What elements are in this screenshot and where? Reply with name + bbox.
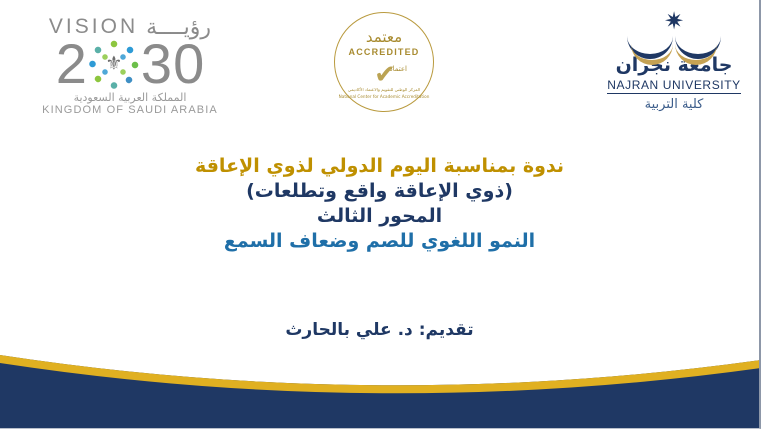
saudi-emblem-icon: ⚜ (105, 53, 122, 76)
presentation-slide: VISION رؤيــــة 2 ⚜ 3 0 المملكة العربية … (0, 0, 761, 429)
header-logo-strip: VISION رؤيــــة 2 ⚜ 3 0 المملكة العربية … (0, 0, 761, 132)
slide-title-block: ندوة بمناسبة اليوم الدولي لذوي الإعاقة (… (0, 154, 759, 254)
accredited-seal: معتمد ACCREDITED ✔ اعتماد المركز الوطني … (334, 12, 434, 112)
seal-checkmark-icon: ✔ اعتماد (361, 60, 407, 86)
nu-college-ar: كلية التربية (600, 97, 748, 112)
title-line-axis: المحور الثالث (0, 204, 759, 229)
vision-digit-3: 3 (141, 38, 172, 90)
title-line-topic: النمو اللغوي للصم وضعاف السمع (0, 229, 759, 254)
vision-digit-2: 2 (56, 38, 87, 90)
seal-title-en: ACCREDITED (349, 47, 420, 57)
vision-digit-0: 0 (173, 38, 204, 90)
bottom-band-shape (0, 338, 761, 428)
nu-emblem: ✷ (600, 10, 748, 56)
presenter-credit: تقديم: د. علي بالحارث (0, 320, 759, 340)
open-book-icon (627, 30, 721, 56)
vision-number-2030: 2 ⚜ 3 0 (30, 38, 230, 90)
seal-title-ar: معتمد (366, 30, 402, 45)
seal-check-label-ar: اعتماد (389, 65, 407, 73)
title-line-seminar: ندوة بمناسبة اليوم الدولي لذوي الإعاقة (0, 154, 759, 179)
nu-name-en: NAJRAN UNIVERSITY (607, 78, 741, 94)
vision-mosaic-zero-icon: ⚜ (89, 39, 139, 89)
bottom-curved-band (0, 338, 761, 428)
nu-name-ar: جامعة نجران (600, 56, 748, 76)
najran-university-logo: ✷ جامعة نجران NAJRAN UNIVERSITY كلية الت… (600, 10, 748, 122)
vision-subtitle-en: KINGDOM OF SAUDI ARABIA (30, 104, 230, 116)
title-line-subtitle: (ذوي الإعاقة واقع وتطلعات) (0, 179, 759, 204)
vision-2030-logo: VISION رؤيــــة 2 ⚜ 3 0 المملكة العربية … (30, 14, 230, 118)
seal-org-line-2: National Center for Academic Accreditati… (339, 94, 430, 100)
